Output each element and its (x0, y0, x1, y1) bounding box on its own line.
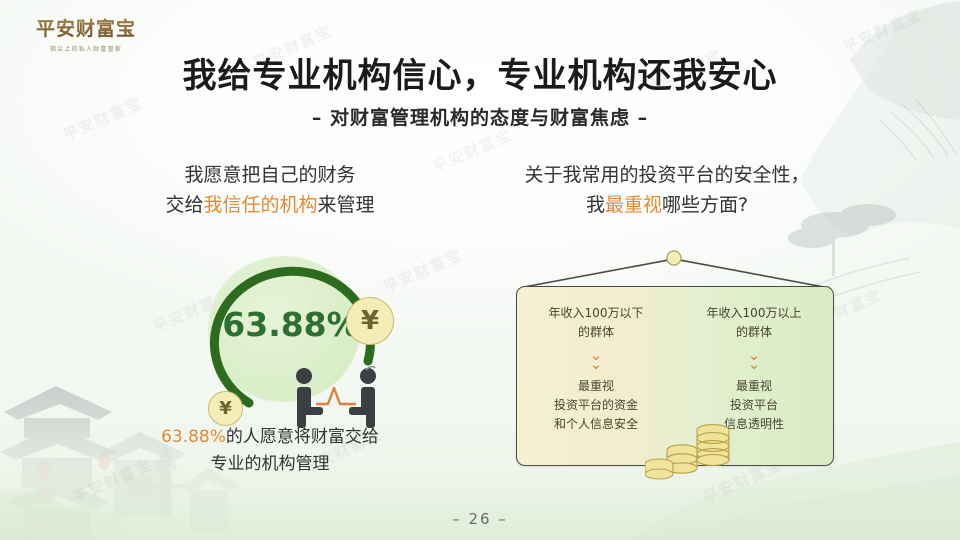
brand-logo-text: 平安财富宝 (26, 14, 146, 41)
panel-group-line-2: 的群体 (707, 323, 802, 342)
left-caption-line-2: 专业的机构管理 (120, 451, 420, 478)
right-heading-highlight: 最重视 (605, 194, 662, 216)
yen-coin-icon: ¥ (346, 297, 394, 345)
left-caption-highlight: 63.88% (161, 427, 226, 447)
left-heading-prefix: 交给 (165, 194, 203, 216)
right-heading-line-1: 关于我常用的投资平台的安全性， (470, 160, 864, 190)
right-heading-suffix: 哪些方面? (662, 194, 748, 216)
right-column-heading: 关于我常用的投资平台的安全性， 我最重视哪些方面? (470, 160, 864, 220)
left-column-heading: 我愿意把自己的财务 交给我信任的机构来管理 (98, 160, 442, 220)
panel-result-line-3: 和个人信息安全 (554, 415, 638, 434)
hanger-knob-icon (667, 251, 681, 265)
panel-group-label: 年收入100万以上 的群体 (707, 304, 802, 342)
panel-group-label: 年收入100万以下 的群体 (549, 304, 644, 342)
panel-group-line-1: 年收入100万以上 (707, 304, 802, 323)
chevron-double-down-icon: ⌄⌄ (590, 351, 603, 369)
panel-group-line-1: 年收入100万以下 (549, 304, 644, 323)
left-caption: 63.88%的人愿意将财富交给 专业的机构管理 (120, 424, 420, 478)
right-heading-prefix: 我 (586, 194, 605, 216)
panel-hanger-connector (516, 243, 832, 289)
panel-result-line-2: 投资平台 (724, 396, 784, 415)
left-caption-line-1: 63.88%的人愿意将财富交给 (120, 424, 420, 451)
page-subtitle: – 对财富管理机构的态度与财富焦虑 – (0, 103, 960, 130)
chevron-double-down-icon: ⌄⌄ (748, 351, 761, 369)
left-heading-line-1: 我愿意把自己的财务 (98, 160, 442, 190)
panel-result-label: 最重视 投资平台的资金 和个人信息安全 (554, 377, 638, 434)
left-heading-highlight: 我信任的机构 (203, 194, 317, 216)
left-heading-line-2: 交给我信任的机构来管理 (98, 190, 442, 220)
panel-group-line-2: 的群体 (549, 323, 644, 342)
left-caption-rest: 的人愿意将财富交给 (226, 427, 379, 447)
coin-stacks-icon (645, 418, 753, 480)
slide-root: 平安财富宝 平安财富宝 平安财富宝 平安财富宝 平安财富宝 平安财富宝 平安财富… (0, 0, 960, 540)
page-number: – 26 – (0, 510, 960, 528)
two-people-meeting-icon (288, 366, 384, 428)
panel-result-line-1: 最重视 (554, 377, 638, 396)
left-heading-suffix: 来管理 (318, 194, 375, 216)
panel-result-line-2: 投资平台的资金 (554, 396, 638, 415)
page-title: 我给专业机构信心，专业机构还我安心 (0, 48, 960, 97)
right-heading-line-2: 我最重视哪些方面? (470, 190, 864, 220)
panel-result-line-1: 最重视 (724, 377, 784, 396)
yen-coin-icon: ¥ (208, 391, 243, 426)
